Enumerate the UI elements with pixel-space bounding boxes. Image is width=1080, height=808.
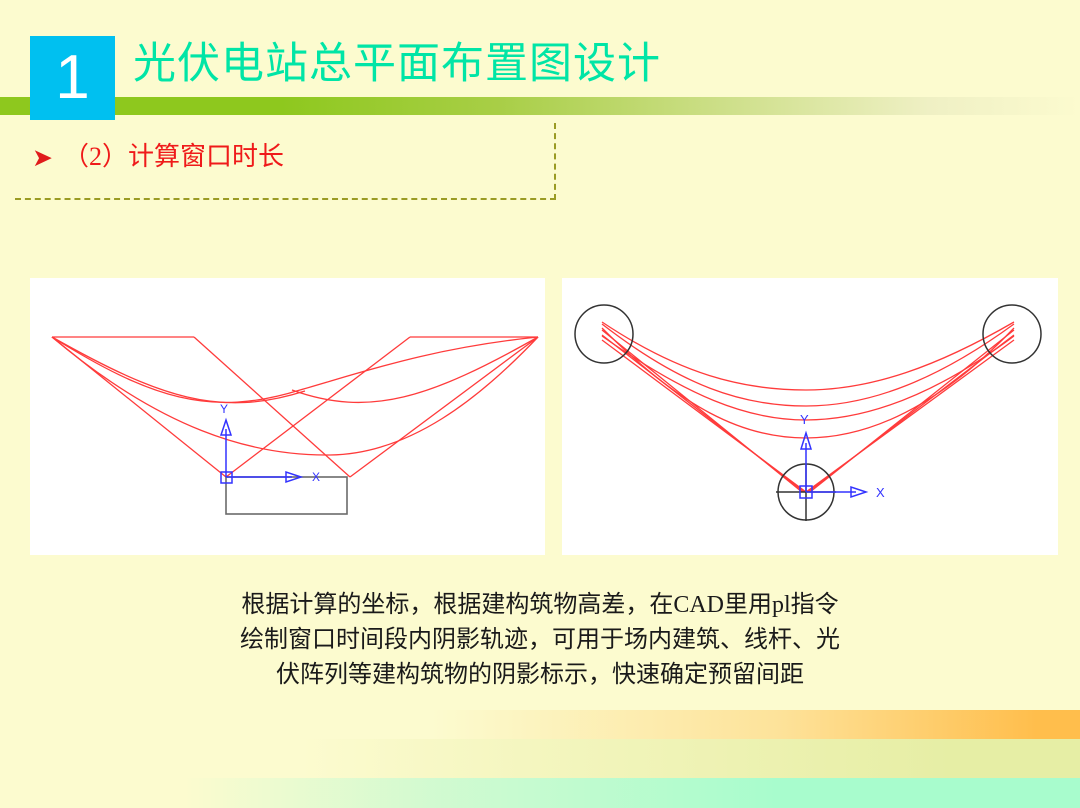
header-number: 1 xyxy=(30,36,115,120)
shadow-trace-lines-left xyxy=(52,337,538,477)
caption-line-1: 根据计算的坐标，根据建构筑物高差，在CAD里用pl指令 xyxy=(170,588,910,623)
slide-root: 1 光伏电站总平面布置图设计 ➤ （2）计算窗口时长 xyxy=(0,0,1080,808)
caption-line-3: 伏阵列等建构筑物的阴影标示，快速确定预留间距 xyxy=(170,658,910,693)
shadow-trace-lines-right xyxy=(602,322,1014,492)
pole-circle-left xyxy=(575,305,633,363)
cad-image-right: Y X xyxy=(562,278,1058,555)
footer-band-yellow-green xyxy=(0,739,1080,778)
bullet-row: ➤ （2）计算窗口时长 xyxy=(32,143,284,172)
x-axis-label: X xyxy=(876,485,885,500)
header-number-box: 1 xyxy=(30,36,115,120)
caption-line-2: 绘制窗口时间段内阴影轨迹，可用于场内建筑、线杆、光 xyxy=(170,623,910,658)
arrow-bullet-icon: ➤ xyxy=(32,145,53,170)
footer-band-orange xyxy=(0,710,1080,739)
cad-image-left: Y X xyxy=(30,278,545,555)
page-title: 光伏电站总平面布置图设计 xyxy=(133,35,661,95)
bullet-label: （2）计算窗口时长 xyxy=(63,143,284,172)
x-axis-label: X xyxy=(312,470,320,484)
y-axis-label: Y xyxy=(800,412,809,427)
y-axis-label: Y xyxy=(220,402,228,416)
header-green-band xyxy=(0,97,1080,115)
footer-band-mint xyxy=(0,778,1080,808)
caption-block: 根据计算的坐标，根据建构筑物高差，在CAD里用pl指令 绘制窗口时间段内阴影轨迹… xyxy=(170,588,910,693)
